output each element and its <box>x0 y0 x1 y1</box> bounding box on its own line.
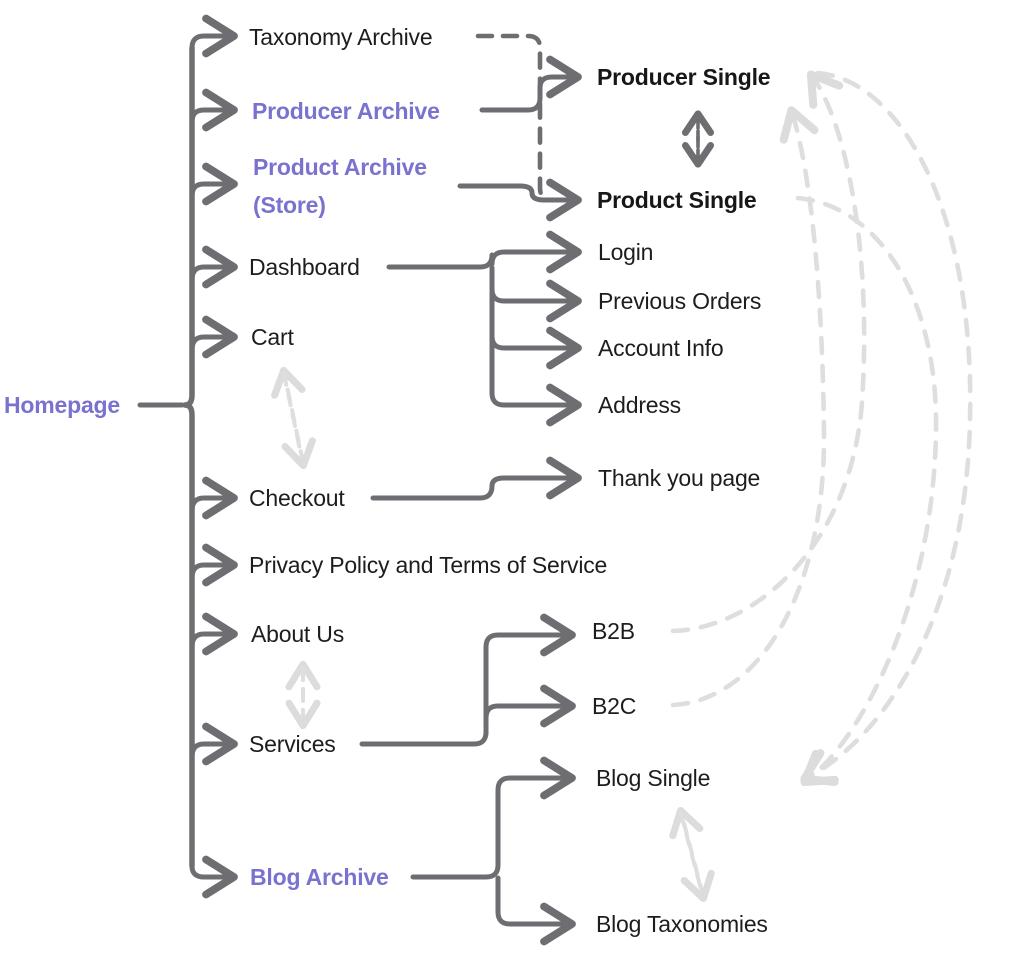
node-product-archive-line2: (Store) <box>253 186 427 224</box>
edge-to-privacy-policy <box>192 565 232 578</box>
node-blog-archive[interactable]: Blog Archive <box>250 862 389 892</box>
edge-to-blog-archive <box>192 866 232 877</box>
edge-services-to-b2b <box>362 635 570 744</box>
edge-dashboard-to-account-info <box>492 268 576 348</box>
node-login[interactable]: Login <box>598 237 653 267</box>
node-cart[interactable]: Cart <box>251 322 294 352</box>
edge-to-product-archive <box>192 184 232 196</box>
node-taxonomy-archive[interactable]: Taxonomy Archive <box>249 22 432 52</box>
edge-services-to-b2c <box>486 706 570 733</box>
edge-blog-archive-to-blog-single <box>413 778 570 877</box>
sitemap-diagram: Homepage Taxonomy Archive Producer Archi… <box>0 0 1024 965</box>
edge-to-taxonomy-archive <box>192 36 232 48</box>
edge-blog-archive-to-blog-taxonomies <box>498 878 570 924</box>
edge-dashboard-to-previous-orders <box>492 268 576 301</box>
node-dashboard[interactable]: Dashboard <box>249 252 360 282</box>
node-privacy-policy[interactable]: Privacy Policy and Terms of Service <box>249 550 607 580</box>
taxonomy-archive-dashed-edges <box>478 36 568 200</box>
edge-dashboard-to-login <box>389 252 576 267</box>
node-homepage[interactable]: Homepage <box>4 390 120 420</box>
node-product-single[interactable]: Product Single <box>597 185 757 215</box>
edge-to-cart <box>192 337 232 350</box>
spine <box>185 48 192 866</box>
edge-to-about-us <box>192 634 232 647</box>
node-blog-taxonomies[interactable]: Blog Taxonomies <box>596 909 768 939</box>
node-checkout[interactable]: Checkout <box>249 483 345 513</box>
node-previous-orders[interactable]: Previous Orders <box>598 286 761 316</box>
node-b2c[interactable]: B2C <box>592 691 636 721</box>
node-product-archive[interactable]: Product Archive (Store) <box>253 148 427 224</box>
bidir-blogsingle-blogtax-down <box>681 814 703 897</box>
edge-to-producer-archive <box>192 110 232 122</box>
edge-to-dashboard <box>192 267 232 280</box>
node-address[interactable]: Address <box>598 390 681 420</box>
edge-to-services <box>192 744 232 757</box>
node-account-info[interactable]: Account Info <box>598 333 723 363</box>
faint-cross-links <box>673 73 970 781</box>
node-blog-single[interactable]: Blog Single <box>596 763 710 793</box>
edge-taxonomy-archive-to-singles <box>478 36 568 200</box>
node-services[interactable]: Services <box>249 729 336 759</box>
node-b2b[interactable]: B2B <box>592 616 635 646</box>
node-product-archive-line1: Product Archive <box>253 148 427 186</box>
node-producer-single[interactable]: Producer Single <box>597 62 770 92</box>
edge-producer-archive-to-producer-single <box>482 77 576 110</box>
node-thank-you-page[interactable]: Thank you page <box>598 463 760 493</box>
edge-to-checkout <box>192 498 232 511</box>
edge-dashboard-to-address <box>492 268 576 405</box>
edge-checkout-to-thank-you-page <box>373 478 576 498</box>
link-blog-single-to-producer-single <box>806 73 970 778</box>
connector-layer <box>0 0 1024 965</box>
node-about-us[interactable]: About Us <box>251 619 344 649</box>
node-producer-archive[interactable]: Producer Archive <box>252 96 440 126</box>
